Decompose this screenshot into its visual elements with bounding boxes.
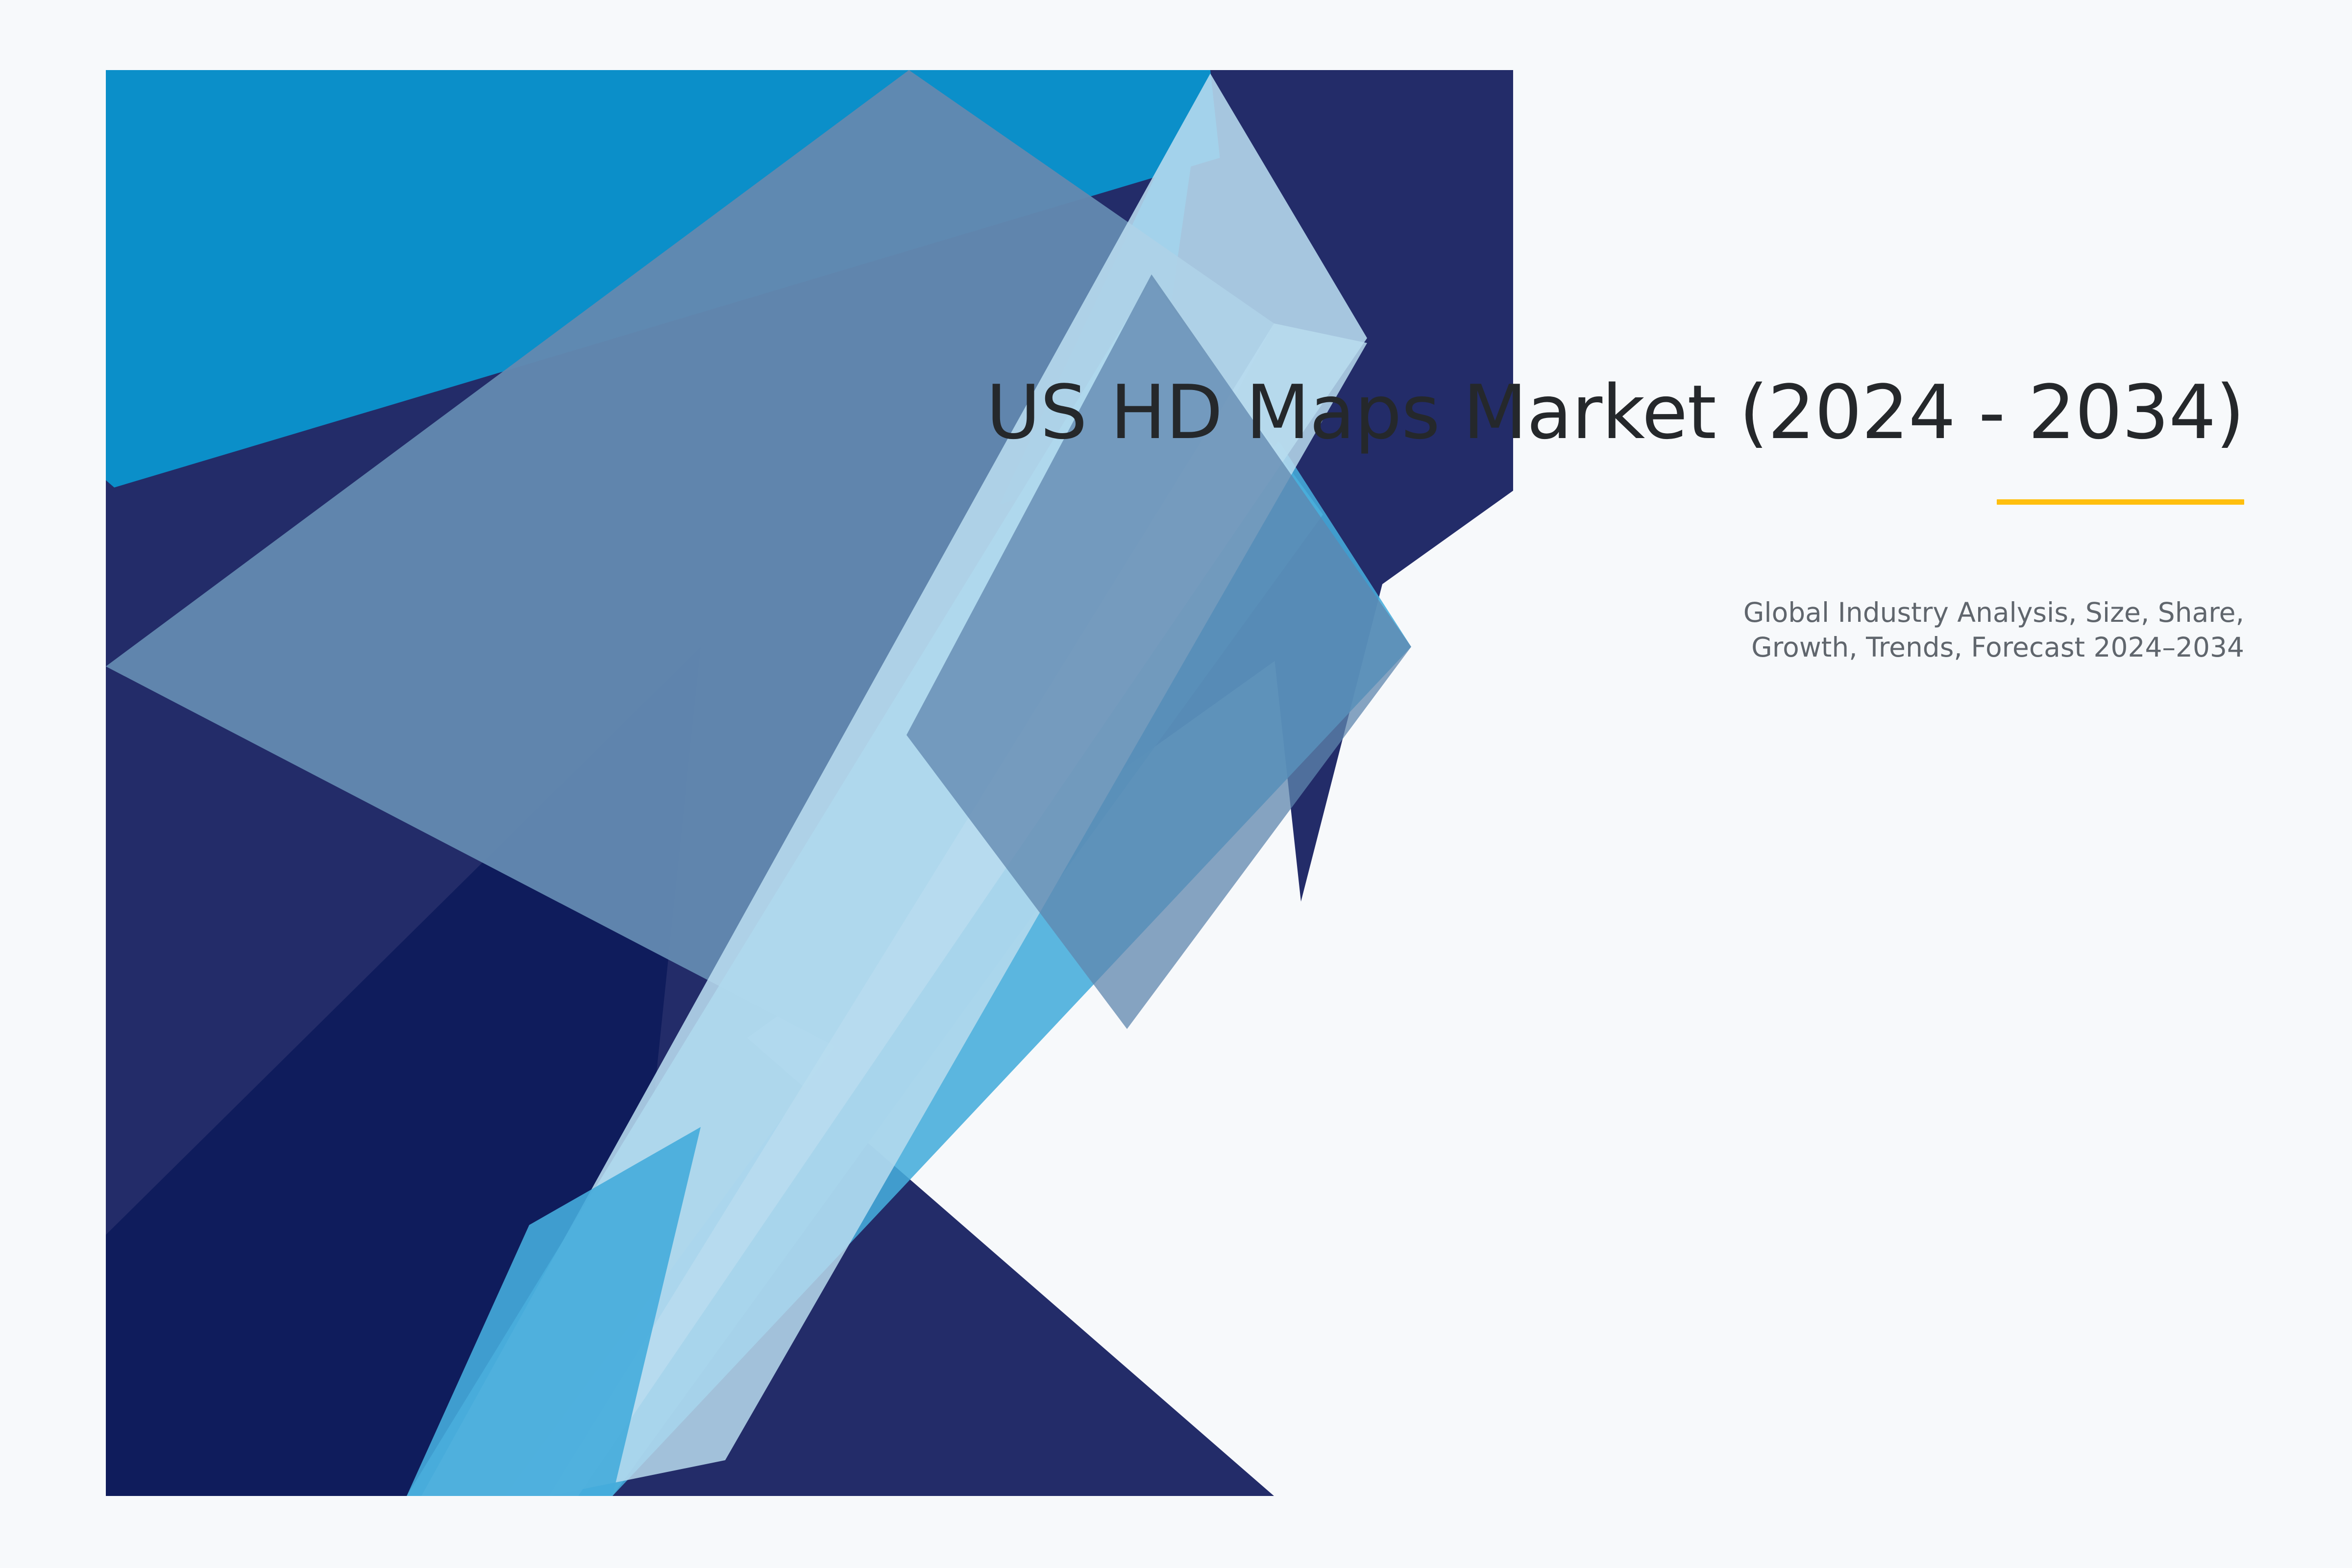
cover-slide: US HD Maps Market (2024 - 2034) Global I… [0, 0, 2352, 1568]
page-title: US HD Maps Market (2024 - 2034) [931, 372, 2244, 453]
accent-rule-wrapper [931, 499, 2244, 505]
accent-rule [1997, 499, 2244, 505]
subtitle-line-2: Growth, Trends, Forecast 2024–2034 [931, 630, 2244, 664]
abstract-geometric-artwork [0, 0, 2352, 1568]
subtitle-line-1: Global Industry Analysis, Size, Share, [931, 595, 2244, 630]
cover-text-block: US HD Maps Market (2024 - 2034) Global I… [931, 372, 2244, 664]
page-subtitle: Global Industry Analysis, Size, Share, G… [931, 595, 2244, 664]
